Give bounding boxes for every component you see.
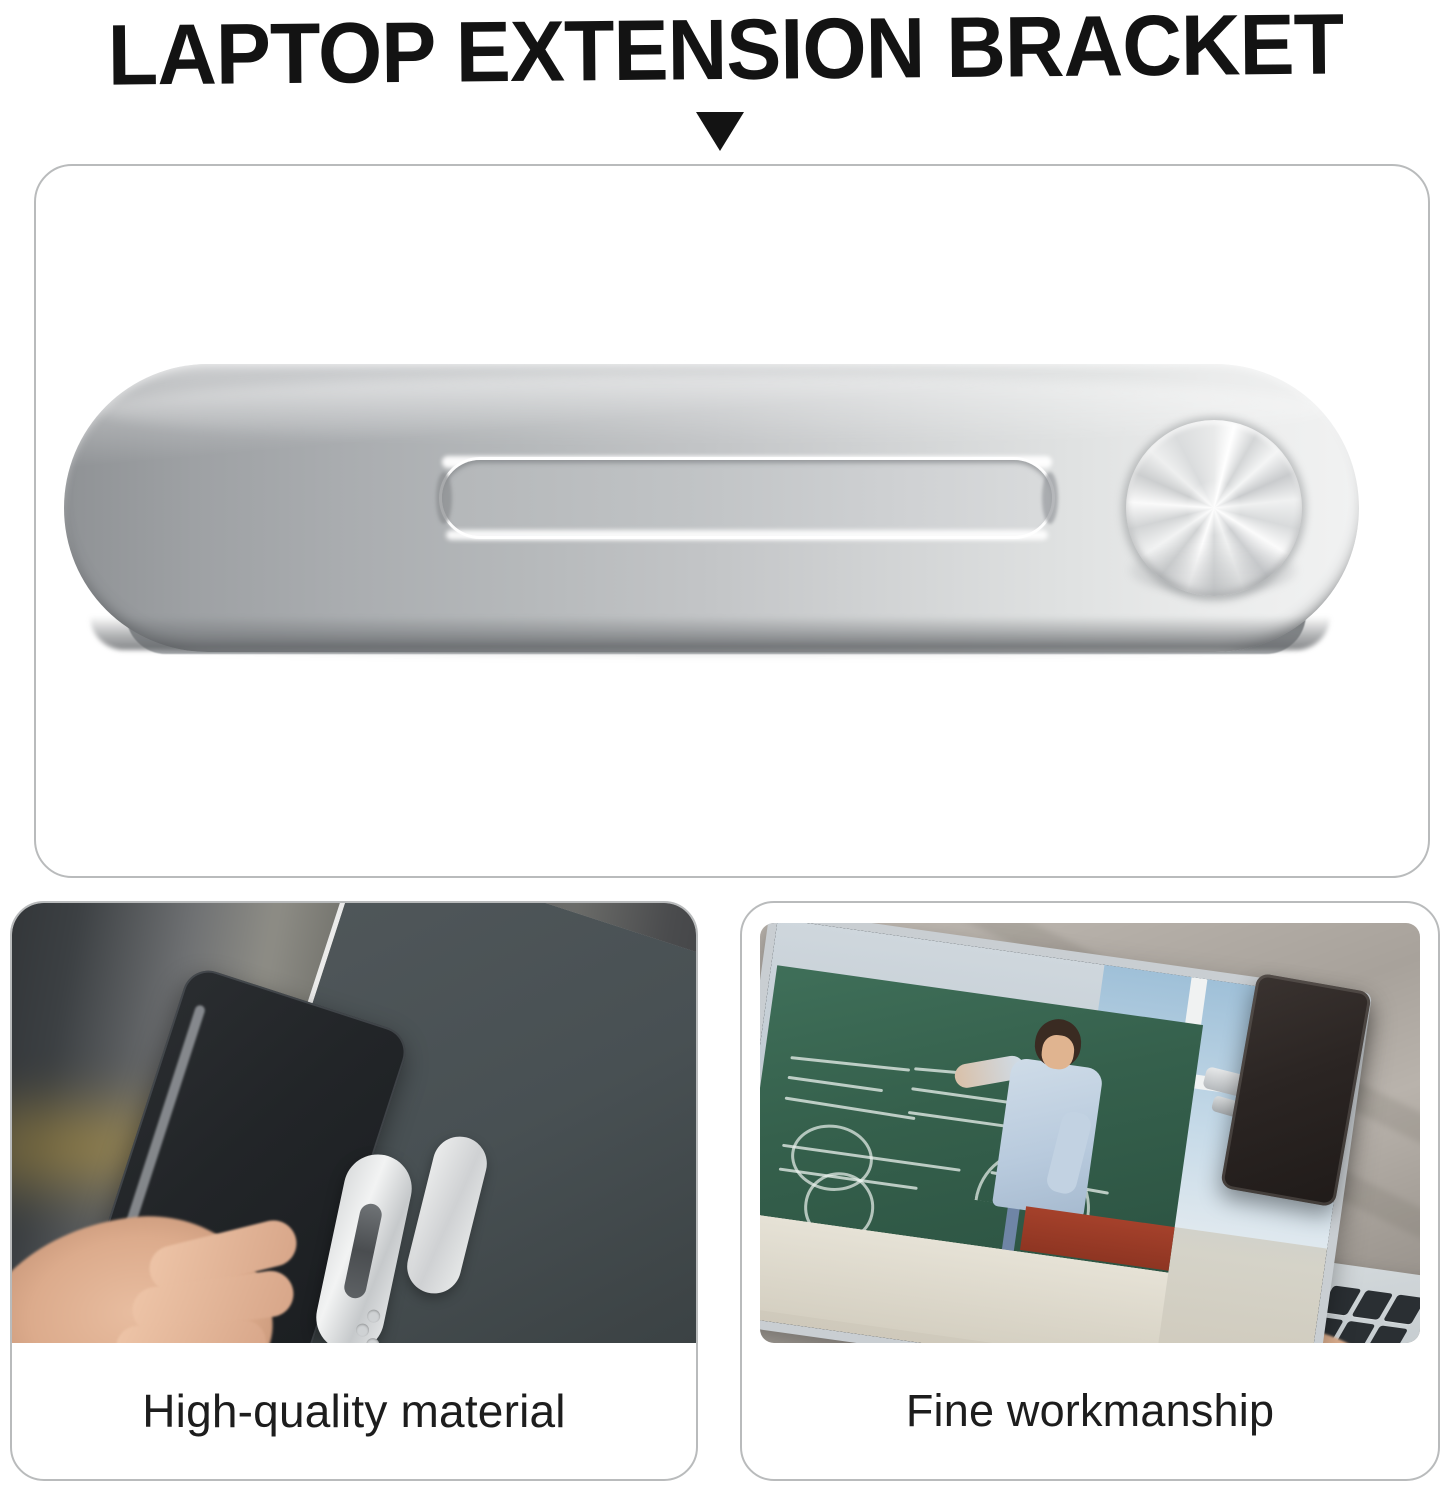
slot-end-left (436, 472, 452, 524)
product-slot (442, 460, 1052, 536)
feature-caption: High-quality material (12, 1343, 696, 1479)
feature-photo-high-quality-material (12, 903, 696, 1343)
product-knob (1126, 420, 1302, 596)
product-illustration (64, 360, 1359, 660)
feature-caption: Fine workmanship (742, 1343, 1438, 1479)
slot-end-right (1042, 472, 1058, 524)
triangle-down-icon (696, 112, 744, 151)
page-header: LAPTOP EXTENSION BRACKET (0, 0, 1450, 100)
feature-card-fine-workmanship: Fine workmanship (740, 901, 1440, 1481)
slot-highlight-bottom (446, 530, 1048, 540)
page-title: LAPTOP EXTENSION BRACKET (107, 0, 1343, 102)
knob-shadow (1130, 546, 1296, 594)
feature-photo-fine-workmanship (760, 923, 1420, 1343)
product-bar-bottom-edge (90, 616, 1330, 650)
hero-product-card (34, 164, 1430, 878)
feature-card-high-quality-material: High-quality material (10, 901, 698, 1481)
